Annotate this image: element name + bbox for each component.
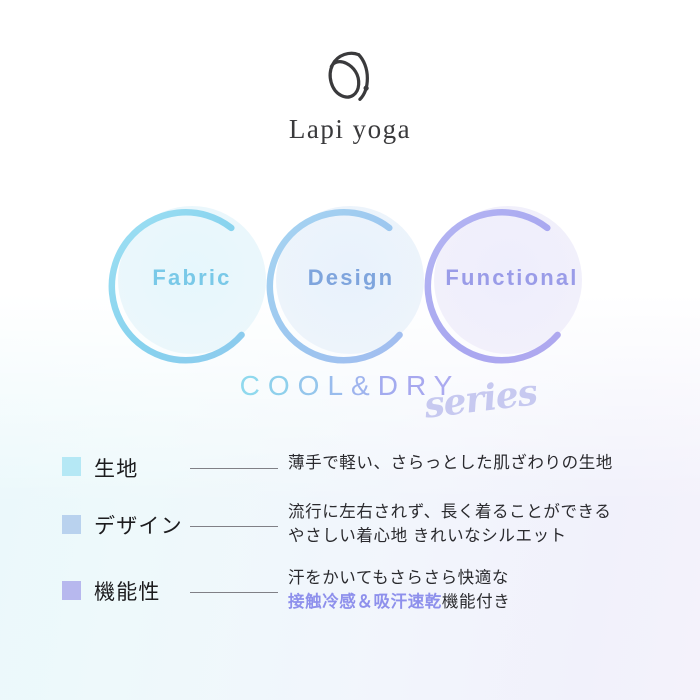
legend-row-fabric: 生地 薄手で軽い、さらっとした肌ざわりの生地 — [62, 452, 662, 483]
cooldry-letter: O — [298, 370, 328, 401]
legend-description: 薄手で軽い、さらっとした肌ざわりの生地 — [288, 452, 613, 476]
cooldry-letter: D — [378, 370, 406, 401]
circle-label-fabric: Fabric — [122, 265, 262, 291]
lapi-monogram-icon — [319, 46, 381, 108]
swatch-icon — [62, 581, 81, 600]
legend-dash-icon — [190, 526, 278, 527]
swatch-icon — [62, 515, 81, 534]
circle-label-design: Design — [281, 265, 421, 291]
cooldry-text: COOL&DRY — [0, 370, 700, 402]
legend-desc-tail: 機能付き — [442, 593, 510, 611]
legend-desc-line1: 汗をかいてもさらさら快適な — [288, 569, 509, 587]
legend-term: 機能性 — [94, 576, 186, 606]
legend-row-functional: 機能性 汗をかいてもさらさら快適な接触冷感＆吸汗速乾機能付き — [62, 567, 662, 615]
swatch-icon — [62, 457, 81, 476]
legend-description: 流行に左右されず、長く着ることができる やさしい着心地 きれいなシルエット — [288, 501, 611, 549]
poster-canvas: Lapi yoga — [0, 0, 700, 700]
series-wordmark: COOL&DRY series — [0, 368, 700, 428]
cooldry-letter: & — [351, 370, 378, 401]
legend-term: 生地 — [94, 453, 186, 483]
cooldry-letter: O — [268, 370, 298, 401]
brand-name: Lapi yoga — [0, 116, 700, 143]
legend-row-design: デザイン 流行に左右されず、長く着ることができる やさしい着心地 きれいなシルエ… — [62, 501, 662, 549]
brand-header: Lapi yoga — [0, 46, 700, 143]
cooldry-letter: L — [327, 370, 351, 401]
legend-dash-icon — [190, 468, 278, 469]
circle-label-functional: Functional — [437, 265, 587, 291]
legend-dash-icon — [190, 592, 278, 593]
feature-legend: 生地 薄手で軽い、さらっとした肌ざわりの生地 デザイン 流行に左右されず、長く着… — [62, 452, 662, 615]
legend-desc-highlight: 接触冷感＆吸汗速乾 — [288, 593, 442, 611]
cooldry-letter: C — [240, 370, 268, 401]
legend-term: デザイン — [94, 510, 186, 540]
legend-description: 汗をかいてもさらさら快適な接触冷感＆吸汗速乾機能付き — [288, 567, 510, 615]
